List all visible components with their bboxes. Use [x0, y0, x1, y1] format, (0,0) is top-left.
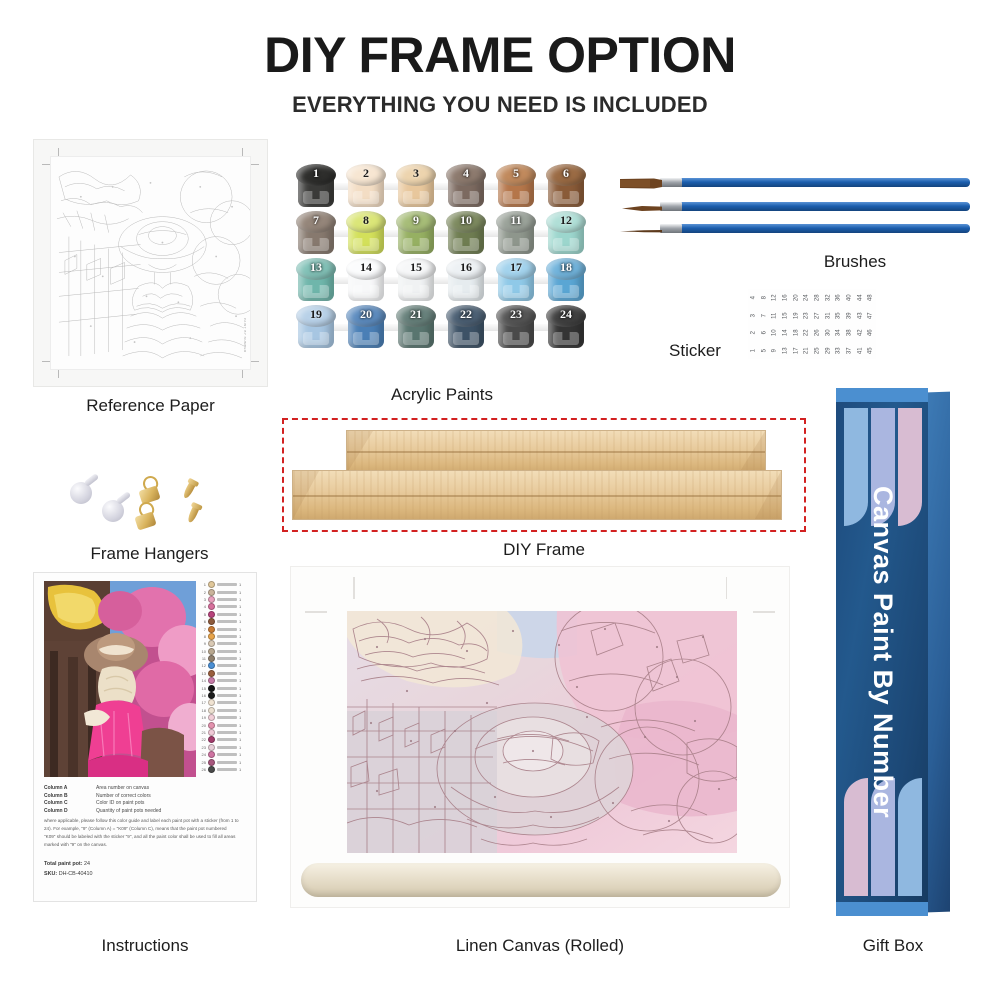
legend-index: 1: [198, 582, 206, 587]
legend-color-swatch: [208, 670, 215, 677]
legend-quantity: 1: [239, 663, 243, 668]
paint-pot[interactable]: 14: [346, 258, 386, 303]
brushes-group: [620, 178, 970, 240]
caption-linen-canvas: Linen Canvas (Rolled): [290, 936, 790, 956]
legend-quantity: 1: [239, 619, 243, 624]
legend-index: 15: [198, 686, 206, 691]
instructions-total-paint-pots: Total paint pot: 24: [44, 861, 90, 867]
bar-groove: [293, 495, 781, 497]
sku-value: DH-CB-40410: [59, 871, 93, 877]
legend-color-code: [217, 657, 237, 660]
caption-frame-hangers: Frame Hangers: [42, 544, 257, 564]
legend-row: 191: [198, 714, 250, 721]
d-ring-plate: [134, 511, 156, 530]
paint-pot[interactable]: 20: [346, 305, 386, 350]
instruction-column-value: Number of correct colors: [96, 793, 151, 799]
legend-color-swatch: [208, 603, 215, 610]
legend-index: 14: [198, 678, 206, 683]
legend-color-swatch: [208, 581, 215, 588]
paint-pot-number: 22: [446, 307, 486, 322]
acrylic-paints-group: 123456789101112131415161718192021222324: [296, 164, 588, 360]
paint-pot[interactable]: 21: [396, 305, 436, 350]
canvas-rolled-edge: [301, 863, 781, 897]
screw: [182, 479, 197, 499]
stretcher-bar: [292, 470, 782, 520]
legend-row: 241: [198, 751, 250, 758]
legend-index: 11: [198, 656, 206, 661]
frame-hangers-group: [62, 470, 242, 534]
legend-quantity: 1: [239, 737, 243, 742]
brush-handle: [680, 178, 970, 187]
paint-pot-number: 9: [396, 213, 436, 228]
legend-quantity: 1: [239, 649, 243, 654]
legend-color-code: [217, 679, 237, 682]
canvas-line-art: [347, 611, 737, 853]
legend-row: 91: [198, 640, 250, 647]
total-label: Total paint pot:: [44, 861, 83, 867]
instruction-column-value: Quantity of paint pots needed: [96, 808, 161, 814]
legend-quantity: 1: [239, 730, 243, 735]
legend-color-swatch: [208, 744, 215, 751]
legend-index: 8: [198, 634, 206, 639]
sticker-number[interactable]: 47: [862, 310, 880, 321]
brush-liner: [620, 224, 970, 233]
legend-quantity: 1: [239, 590, 243, 595]
paint-pot[interactable]: 2: [346, 164, 386, 209]
legend-index: 12: [198, 663, 206, 668]
paint-pot[interactable]: 19: [296, 305, 336, 350]
paint-pot[interactable]: 17: [496, 258, 536, 303]
instructions-artwork: [44, 581, 196, 777]
paint-pot-number: 14: [346, 260, 386, 275]
legend-color-swatch: [208, 722, 215, 729]
legend-quantity: 1: [239, 641, 243, 646]
legend-color-swatch: [208, 626, 215, 633]
paint-pot-number: 3: [396, 166, 436, 181]
legend-color-swatch: [208, 714, 215, 721]
paint-pot-number: 24: [546, 307, 586, 322]
brush-tip-flat: [620, 178, 662, 189]
hook-pin: [84, 473, 100, 487]
legend-row: 221: [198, 736, 250, 743]
caption-diy-frame: DIY Frame: [282, 540, 806, 560]
legend-row: 231: [198, 744, 250, 751]
legend-index: 26: [198, 767, 206, 772]
paint-pot[interactable]: 10: [446, 211, 486, 256]
instruction-column-key-label: Column D: [44, 808, 90, 814]
screw: [186, 503, 200, 523]
legend-row: 201: [198, 721, 250, 728]
legend-index: 10: [198, 649, 206, 654]
legend-color-code: [217, 687, 237, 690]
legend-quantity: 1: [239, 634, 243, 639]
paint-pot[interactable]: 9: [396, 211, 436, 256]
instruction-column-row: Column BNumber of correct colors: [44, 793, 222, 799]
paint-pot-number: 7: [296, 213, 336, 228]
legend-index: 9: [198, 641, 206, 646]
legend-index: 20: [198, 723, 206, 728]
paint-pot[interactable]: 23: [496, 305, 536, 350]
legend-color-swatch: [208, 611, 215, 618]
legend-color-swatch: [208, 692, 215, 699]
legend-color-swatch: [208, 633, 215, 640]
linen-canvas-rolled: [290, 566, 790, 908]
legend-color-code: [217, 738, 237, 741]
paint-pot[interactable]: 1: [296, 164, 336, 209]
paint-pot-number: 13: [296, 260, 336, 275]
paint-pot[interactable]: 16: [446, 258, 486, 303]
paint-pot[interactable]: 18: [546, 258, 586, 303]
legend-row: 41: [198, 603, 250, 610]
legend-row: 101: [198, 648, 250, 655]
legend-index: 17: [198, 700, 206, 705]
paint-pot-number: 18: [546, 260, 586, 275]
legend-row: 261: [198, 766, 250, 773]
legend-color-code: [217, 709, 237, 712]
legend-row: 51: [198, 611, 250, 618]
legend-quantity: 1: [239, 671, 243, 676]
legend-index: 13: [198, 671, 206, 676]
instructions-card: 1121314151617181911011111211311411511611…: [33, 572, 257, 902]
legend-color-code: [217, 694, 237, 697]
legend-color-code: [217, 605, 237, 608]
legend-color-swatch: [208, 618, 215, 625]
reference-paper-sidenote: PAINT BY NUMBER: [243, 318, 247, 353]
canvas-corner-tab: [305, 611, 327, 613]
paint-pot[interactable]: 7: [296, 211, 336, 256]
instruction-column-value: Color ID on paint pots: [96, 800, 144, 806]
legend-color-code: [217, 672, 237, 675]
brush-ferrule: [660, 178, 682, 187]
legend-quantity: 1: [239, 627, 243, 632]
legend-color-swatch: [208, 766, 215, 773]
brush-ferrule: [660, 224, 682, 233]
page-subtitle: EVERYTHING YOU NEED IS INCLUDED: [0, 92, 1000, 118]
legend-index: 22: [198, 737, 206, 742]
legend-quantity: 1: [239, 715, 243, 720]
brush-handle: [680, 224, 970, 233]
legend-color-swatch: [208, 685, 215, 692]
legend-color-swatch: [208, 596, 215, 603]
sticker-number[interactable]: 48: [862, 292, 880, 303]
hook-pin: [116, 491, 132, 505]
sticker-number-grid: 4812162024283236404448371115192327313539…: [748, 289, 876, 359]
legend-color-swatch: [208, 751, 215, 758]
instruction-column-row: Column AArea number on canvas: [44, 785, 222, 791]
instruction-column-row: Column DQuantity of paint pots needed: [44, 808, 222, 814]
paint-pot-number: 5: [496, 166, 536, 181]
caption-reference-paper: Reference Paper: [33, 396, 268, 416]
paint-pot-number: 8: [346, 213, 386, 228]
legend-index: 4: [198, 604, 206, 609]
legend-quantity: 1: [239, 656, 243, 661]
legend-index: 5: [198, 612, 206, 617]
paint-pot-number: 15: [396, 260, 436, 275]
legend-color-code: [217, 642, 237, 645]
legend-quantity: 1: [239, 597, 243, 602]
legend-color-swatch: [208, 699, 215, 706]
reference-paper-artwork: PAINT BY NUMBER: [50, 156, 251, 370]
brush-tip-liner: [620, 226, 662, 237]
canvas-corner-tab: [726, 577, 728, 599]
legend-row: 31: [198, 596, 250, 603]
legend-color-code: [217, 753, 237, 756]
legend-row: 111: [198, 655, 250, 662]
paint-pot[interactable]: 22: [446, 305, 486, 350]
stretcher-bar: [346, 430, 766, 474]
legend-color-swatch: [208, 677, 215, 684]
paint-pot-number: 20: [346, 307, 386, 322]
sku-label: SKU:: [44, 871, 57, 877]
paint-pot-row: 789101112: [296, 211, 588, 257]
canvas-corner-tab: [753, 611, 775, 613]
legend-color-code: [217, 591, 237, 594]
legend-row: 21: [198, 588, 250, 595]
legend-quantity: 1: [239, 582, 243, 587]
legend-index: 19: [198, 715, 206, 720]
legend-row: 171: [198, 699, 250, 706]
legend-color-code: [217, 761, 237, 764]
paint-pot-number: 1: [296, 166, 336, 181]
legend-index: 18: [198, 708, 206, 713]
legend-row: 71: [198, 625, 250, 632]
instructions-column-key: Column AArea number on canvasColumn BNum…: [44, 785, 222, 815]
legend-color-code: [217, 701, 237, 704]
legend-row: 61: [198, 618, 250, 625]
brush-ferrule: [660, 202, 682, 211]
legend-index: 21: [198, 730, 206, 735]
page-title: DIY FRAME OPTION: [0, 26, 1000, 84]
reference-painting: [44, 581, 196, 777]
legend-color-swatch: [208, 655, 215, 662]
paint-pot[interactable]: 3: [396, 164, 436, 209]
caption-brushes: Brushes: [760, 252, 950, 272]
sticker-number[interactable]: 46: [862, 327, 880, 338]
legend-quantity: 1: [239, 767, 243, 772]
legend-color-code: [217, 598, 237, 601]
legend-color-swatch: [208, 648, 215, 655]
paint-pot-number: 17: [496, 260, 536, 275]
legend-index: 25: [198, 760, 206, 765]
caption-instructions: Instructions: [33, 936, 257, 956]
gift-box-title: Canvas Paint By Number: [836, 388, 928, 916]
legend-color-swatch: [208, 736, 215, 743]
sticker-number[interactable]: 45: [862, 345, 880, 356]
legend-quantity: 1: [239, 760, 243, 765]
legend-index: 16: [198, 693, 206, 698]
legend-row: 131: [198, 670, 250, 677]
legend-index: 6: [198, 619, 206, 624]
gift-box: Canvas Paint By Number: [836, 388, 950, 916]
legend-color-swatch: [208, 759, 215, 766]
paint-pot-number: 6: [546, 166, 586, 181]
instructions-note: where applicable, please follow this col…: [44, 817, 239, 849]
paint-pot[interactable]: 4: [446, 164, 486, 209]
canvas-printed-artwork: [347, 611, 737, 853]
instruction-column-row: Column CColor ID on paint pots: [44, 800, 222, 806]
legend-color-swatch: [208, 589, 215, 596]
paint-pot-row: 131415161718: [296, 258, 588, 304]
brush-round: [620, 202, 970, 211]
instructions-color-legend: 1121314151617181911011111211311411511611…: [198, 581, 250, 773]
canvas-corner-tab: [353, 577, 355, 599]
paint-pot[interactable]: 5: [496, 164, 536, 209]
legend-quantity: 1: [239, 604, 243, 609]
sticker-sheet: 4812162024283236404448371115192327313539…: [748, 289, 876, 359]
paint-pot[interactable]: 8: [346, 211, 386, 256]
legend-index: 24: [198, 752, 206, 757]
brush-handle: [680, 202, 970, 211]
legend-color-code: [217, 746, 237, 749]
legend-color-code: [217, 731, 237, 734]
legend-row: 11: [198, 581, 250, 588]
paint-pot-number: 11: [496, 213, 536, 228]
product-infographic: DIY FRAME OPTION EVERYTHING YOU NEED IS …: [0, 0, 1000, 1000]
legend-color-code: [217, 664, 237, 667]
legend-color-swatch: [208, 707, 215, 714]
paint-pot-number: 16: [446, 260, 486, 275]
gift-box-side-panel: [928, 392, 950, 913]
legend-row: 121: [198, 662, 250, 669]
paint-pot[interactable]: 15: [396, 258, 436, 303]
instructions-sku: SKU: DH-CB-40410: [44, 871, 93, 877]
paint-pot-number: 10: [446, 213, 486, 228]
caption-sticker: Sticker: [640, 341, 750, 361]
legend-color-code: [217, 583, 237, 586]
reference-paper: PAINT BY NUMBER: [33, 139, 268, 387]
legend-quantity: 1: [239, 612, 243, 617]
caption-gift-box: Gift Box: [836, 936, 950, 956]
legend-quantity: 1: [239, 693, 243, 698]
paint-pot-number: 21: [396, 307, 436, 322]
diy-frame-group: [282, 418, 806, 532]
legend-color-code: [217, 628, 237, 631]
paint-pot[interactable]: 13: [296, 258, 336, 303]
paint-pot-number: 2: [346, 166, 386, 181]
legend-color-code: [217, 650, 237, 653]
instruction-column-key-label: Column C: [44, 800, 90, 806]
legend-quantity: 1: [239, 723, 243, 728]
bar-groove: [347, 451, 765, 453]
legend-quantity: 1: [239, 700, 243, 705]
legend-quantity: 1: [239, 686, 243, 691]
legend-row: 181: [198, 707, 250, 714]
legend-index: 3: [198, 597, 206, 602]
paint-pot-number: 4: [446, 166, 486, 181]
paint-pot-number: 19: [296, 307, 336, 322]
paint-pot-number: 23: [496, 307, 536, 322]
paint-pot[interactable]: 6: [546, 164, 586, 209]
paint-pot[interactable]: 12: [546, 211, 586, 256]
legend-row: 151: [198, 684, 250, 691]
paint-pot[interactable]: 24: [546, 305, 586, 350]
legend-color-code: [217, 620, 237, 623]
paint-pot-row: 192021222324: [296, 305, 588, 351]
legend-color-swatch: [208, 640, 215, 647]
line-art-outline: [51, 157, 250, 370]
legend-color-code: [217, 768, 237, 771]
brush-flat: [620, 178, 970, 187]
legend-quantity: 1: [239, 752, 243, 757]
total-value: 24: [84, 861, 90, 867]
legend-quantity: 1: [239, 678, 243, 683]
d-ring-hanger: [136, 502, 156, 528]
legend-color-swatch: [208, 729, 215, 736]
paint-pot-row: 123456: [296, 164, 588, 210]
legend-row: 141: [198, 677, 250, 684]
brush-tip-round: [620, 203, 662, 214]
gift-box-front-panel: Canvas Paint By Number: [836, 388, 928, 916]
legend-row: 81: [198, 633, 250, 640]
d-ring-hanger: [140, 476, 160, 502]
legend-index: 2: [198, 590, 206, 595]
instruction-column-key-label: Column B: [44, 793, 90, 799]
paint-pot-number: 12: [546, 213, 586, 228]
legend-color-code: [217, 716, 237, 719]
paint-pot[interactable]: 11: [496, 211, 536, 256]
instruction-column-value: Area number on canvas: [96, 785, 149, 791]
legend-row: 161: [198, 692, 250, 699]
legend-color-code: [217, 724, 237, 727]
legend-color-code: [217, 613, 237, 616]
legend-quantity: 1: [239, 745, 243, 750]
legend-color-swatch: [208, 662, 215, 669]
legend-quantity: 1: [239, 708, 243, 713]
caption-acrylic-paints: Acrylic Paints: [296, 385, 588, 405]
legend-index: 7: [198, 627, 206, 632]
instruction-column-key-label: Column A: [44, 785, 90, 791]
legend-index: 23: [198, 745, 206, 750]
legend-color-code: [217, 635, 237, 638]
gift-box-title-text: Canvas Paint By Number: [866, 486, 898, 818]
legend-row: 251: [198, 758, 250, 765]
legend-row: 211: [198, 729, 250, 736]
